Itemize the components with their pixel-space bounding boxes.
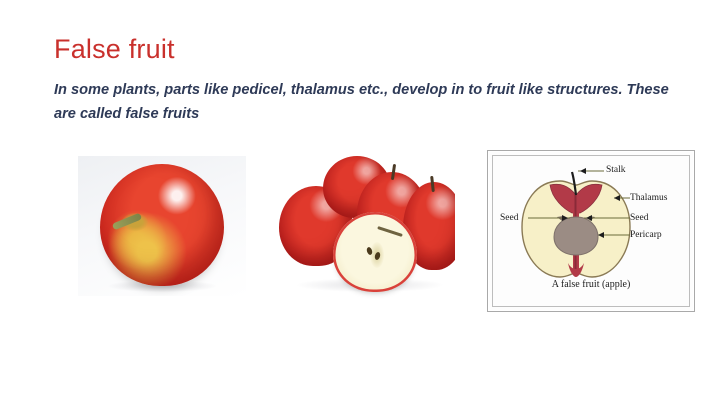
apple-body — [100, 164, 224, 286]
apple-half-stem — [377, 226, 403, 237]
slide-canvas: False fruit In some plants, parts like p… — [0, 0, 720, 404]
diagram-label-stalk: Stalk — [606, 165, 626, 175]
diagram-caption: A false fruit (apple) — [488, 279, 694, 290]
page-title: False fruit — [54, 33, 175, 65]
diagram-label-pericarp: Pericarp — [630, 230, 662, 240]
photo-apple-group — [275, 150, 455, 300]
diagram-label-seed-right: Seed — [630, 213, 648, 223]
photo-single-apple — [78, 156, 246, 296]
false-fruit-diagram: Stalk Thalamus Seed Pericarp Seed A fals… — [487, 150, 695, 312]
diagram-label-thalamus: Thalamus — [630, 193, 667, 203]
apple-half-cut — [333, 212, 417, 292]
slide-subtitle: In some plants, parts like pedicel, thal… — [54, 78, 669, 126]
diagram-label-seed-left: Seed — [500, 213, 518, 223]
